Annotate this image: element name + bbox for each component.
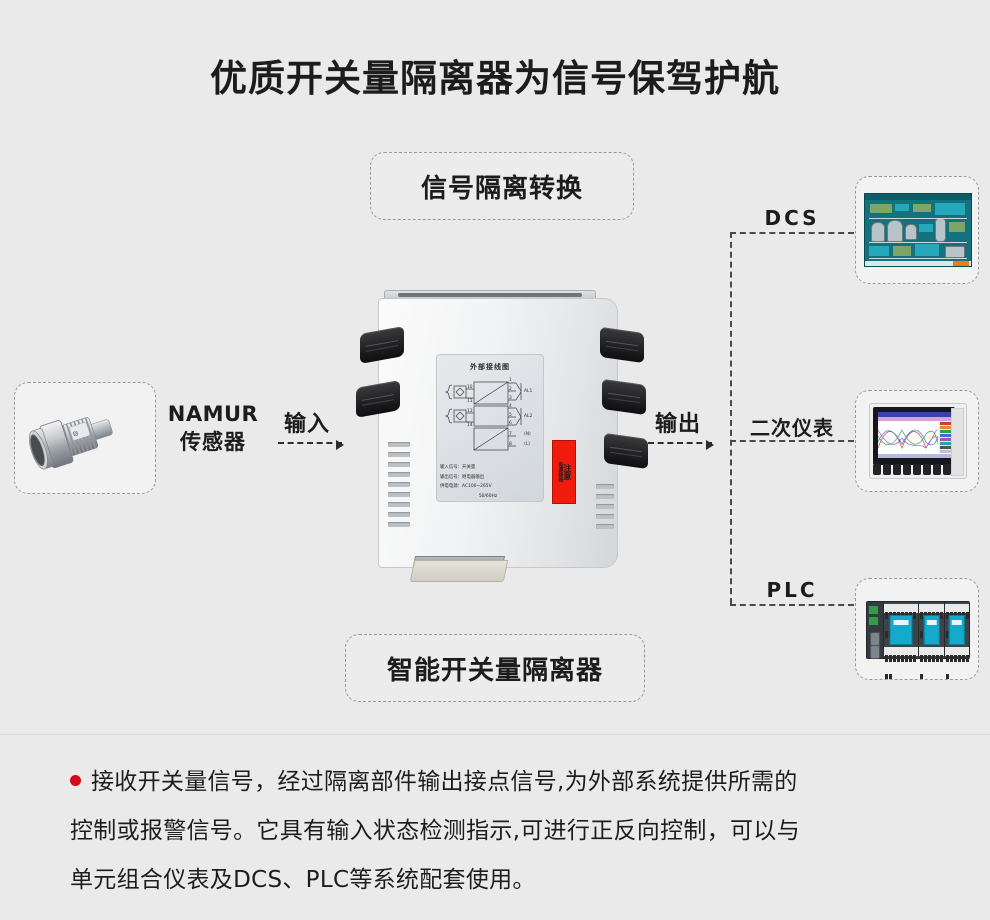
page-title: 优质开关量隔离器为信号保驾护航	[0, 48, 990, 102]
svg-text:2: 2	[509, 386, 512, 392]
wiring-diagram-title: 外部接线图	[440, 362, 540, 372]
svg-text:1: 1	[509, 377, 512, 383]
output-arrow-icon	[648, 442, 712, 446]
bullet-point-icon	[70, 775, 81, 786]
svg-text:8: 8	[509, 441, 512, 447]
caption-top-text: 信号隔离转换	[421, 168, 583, 205]
branch-label-plc: PLC	[740, 578, 844, 602]
device-spec-line-3: 供电电源：AC100~265V	[440, 484, 536, 490]
recorder-button-row	[873, 464, 951, 475]
terminal-block-right-2	[602, 379, 646, 415]
namur-sensor-label: NAMUR 传感器	[158, 400, 268, 457]
svg-text:3: 3	[509, 395, 512, 401]
description-line-1: 接收开关量信号，经过隔离部件输出接点信号,为外部系统提供所需的	[91, 769, 798, 795]
branch-trunk-line	[730, 232, 732, 604]
section-divider	[0, 734, 990, 735]
caption-bottom-text: 智能开关量隔离器	[387, 650, 603, 687]
poster-stage: 优质开关量隔离器为信号保驾护航 信号隔离转换 智能开关量隔离器	[0, 0, 990, 920]
terminal-block-right-3	[604, 433, 648, 469]
proximity-sensor-icon: ₪	[15, 383, 155, 493]
device-top-slot	[398, 293, 582, 297]
device-wiring-label: 外部接线图	[436, 354, 544, 502]
svg-text:6: 6	[509, 420, 512, 426]
wiring-diagram-icon: 10 11 13 14 1 2 3 4 5 6 7 8 AL1 AL2 (N) …	[440, 376, 540, 462]
device-vents-right	[596, 484, 622, 540]
svg-text:11: 11	[467, 398, 473, 404]
svg-text:AL2: AL2	[524, 413, 532, 419]
switch-isolator-device: 外部接线图	[352, 284, 652, 596]
description-line-3: 单元组合仪表及DCS、PLC等系统配套使用。	[70, 867, 536, 893]
svg-text:AL1: AL1	[524, 388, 532, 394]
svg-text:10: 10	[467, 384, 473, 390]
device-spec-line-4: 50/60Hz	[440, 494, 536, 500]
branch-line-dcs	[730, 232, 854, 234]
branch-label-dcs: DCS	[740, 206, 844, 230]
input-label: 输入	[284, 406, 330, 438]
device-spec-line-1: 输入信号：开关量	[440, 465, 536, 471]
svg-text:4: 4	[509, 403, 512, 409]
svg-text:(N): (N)	[524, 431, 531, 437]
plc-thumbnail	[855, 578, 979, 680]
namur-sensor-thumbnail: ₪	[14, 382, 156, 494]
branch-label-meter: 二次仪表	[734, 412, 850, 441]
device-warning-label: 电源规格 注意	[552, 440, 576, 504]
device-foot	[410, 560, 509, 582]
branch-line-plc	[730, 604, 854, 606]
svg-text:7: 7	[509, 431, 512, 437]
dcs-control-screen-image	[864, 193, 972, 267]
device-spec-line-2: 输出信号：继电器输出	[440, 475, 536, 481]
paperless-recorder-image	[869, 403, 967, 479]
terminal-block-right-1	[600, 327, 644, 363]
warning-text: 注意	[562, 464, 570, 480]
svg-text:14: 14	[467, 422, 473, 428]
output-label: 输出	[655, 406, 701, 438]
caption-smart-switch-isolator: 智能开关量隔离器	[345, 634, 645, 702]
description-paragraph: 接收开关量信号，经过隔离部件输出接点信号,为外部系统提供所需的 控制或报警信号。…	[70, 758, 940, 905]
svg-text:5: 5	[509, 412, 512, 418]
plc-rack-image	[866, 601, 970, 659]
dcs-thumbnail	[855, 176, 979, 284]
meter-thumbnail	[855, 390, 979, 492]
svg-text:13: 13	[467, 408, 473, 414]
namur-label-en: NAMUR	[158, 400, 268, 428]
svg-text:(L): (L)	[524, 441, 530, 447]
namur-label-cn: 传感器	[158, 428, 268, 456]
caption-signal-isolation-conversion: 信号隔离转换	[370, 152, 634, 220]
device-vents-left	[388, 442, 414, 544]
trend-curves-icon	[878, 422, 938, 454]
input-arrow-icon	[278, 442, 342, 446]
description-line-2: 控制或报警信号。它具有输入状态检测指示,可进行正反向控制，可以与	[70, 818, 800, 844]
